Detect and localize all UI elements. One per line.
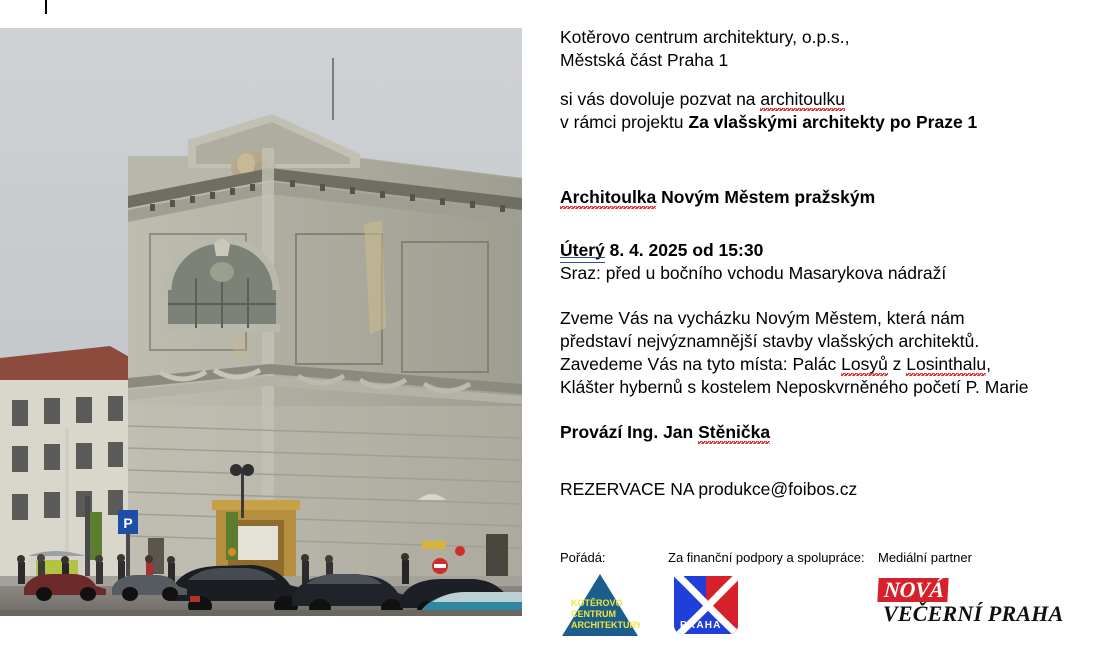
label-media-partner: Mediální partner — [878, 550, 972, 566]
organizer-line-2: Městská část Praha 1 — [560, 49, 1090, 72]
body-line-4: Klášter hybernů s kostelem Neposkvrněnéh… — [560, 376, 1090, 399]
koterovo-centrum-architektury-logo[interactable]: KOTĚROVO CENTRUM ARCHITEKTURY — [560, 572, 640, 638]
misspelled-word-architoulku: architoulku — [760, 89, 845, 111]
footer-partners: Pořádá: Za finanční podpory a spolupráce… — [0, 548, 1107, 668]
building-photo[interactable]: P — [0, 28, 522, 616]
kca-line1: KOTĚROVO — [571, 597, 623, 608]
guide-prefix: Provází Ing. Jan — [560, 422, 698, 442]
praha-1-logo[interactable]: PRAHA 1 — [670, 572, 742, 638]
praha1-caption: PRAHA 1 — [680, 620, 732, 631]
body-line-3-prefix: Zavedeme Vás na tyto místa: Palác — [560, 354, 841, 374]
meeting-point: Sraz: před u bočního vchodu Masarykova n… — [560, 262, 1090, 285]
body-line-3: Zavedeme Vás na tyto místa: Palác Losyů … — [560, 353, 1090, 376]
misspelled-word-losinthalu: Losinthalu — [906, 354, 986, 376]
koterovo-logo-graphic: KOTĚROVO CENTRUM ARCHITEKTURY — [560, 572, 640, 638]
grammar-flag-utery: Úterý — [560, 240, 605, 262]
invitation-text-column: Kotěrovo centrum architektury, o.p.s., M… — [560, 26, 1090, 501]
project-name: Za vlašskými architekty po Praze 1 — [688, 112, 977, 132]
misspelled-word-losyu: Losyů — [841, 354, 888, 376]
invite-line-1: si vás dovoluje pozvat na architoulku — [560, 88, 1090, 111]
kca-line3: ARCHITEKTURY — [571, 620, 640, 630]
building-photo-illustration: P — [0, 28, 522, 616]
event-datetime: Úterý 8. 4. 2025 od 15:30 — [560, 239, 1090, 262]
invite-line-1-prefix: si vás dovoluje pozvat na — [560, 89, 760, 109]
svg-text:P: P — [123, 515, 132, 531]
text-cursor — [45, 0, 47, 14]
misspelled-word-stenicka: Stěnička — [698, 422, 770, 444]
body-line-3-suffix: , — [986, 354, 991, 374]
praha1-logo-graphic: PRAHA 1 — [670, 572, 742, 638]
organizer-line-1: Kotěrovo centrum architektury, o.p.s., — [560, 26, 1090, 49]
body-line-2: představí nejvýznamnější stavby vlašskýc… — [560, 330, 1090, 353]
walk-heading: Architoulka Novým Městem pražským — [560, 186, 1090, 209]
event-datetime-rest: 8. 4. 2025 od 15:30 — [605, 240, 764, 260]
nvp-black-words: VEČERNÍ PRAHA — [878, 602, 1064, 626]
body-line-1: Zveme Vás na vycházku Novým Městem, kter… — [560, 307, 1090, 330]
reservation-line[interactable]: REZERVACE NA produkce@foibos.cz — [560, 478, 1090, 501]
label-organizer: Pořádá: — [560, 550, 606, 566]
guide-name: Provází Ing. Jan Stěnička — [560, 421, 1090, 444]
nvp-red-word: NOVÁ — [877, 578, 948, 602]
label-financial-support: Za finanční podpory a spolupráce: — [668, 550, 865, 566]
invite-line-2-prefix: v rámci projektu — [560, 112, 688, 132]
nova-vecerni-praha-logo[interactable]: NOVÁVEČERNÍ PRAHA — [878, 578, 1083, 608]
invite-line-2: v rámci projektu Za vlašskými architekty… — [560, 111, 1090, 134]
kca-line2: CENTRUM — [571, 609, 616, 619]
body-line-3-mid: z — [888, 354, 906, 374]
walk-heading-rest: Novým Městem pražským — [656, 187, 875, 207]
misspelled-word-architoulka: Architoulka — [560, 187, 656, 209]
